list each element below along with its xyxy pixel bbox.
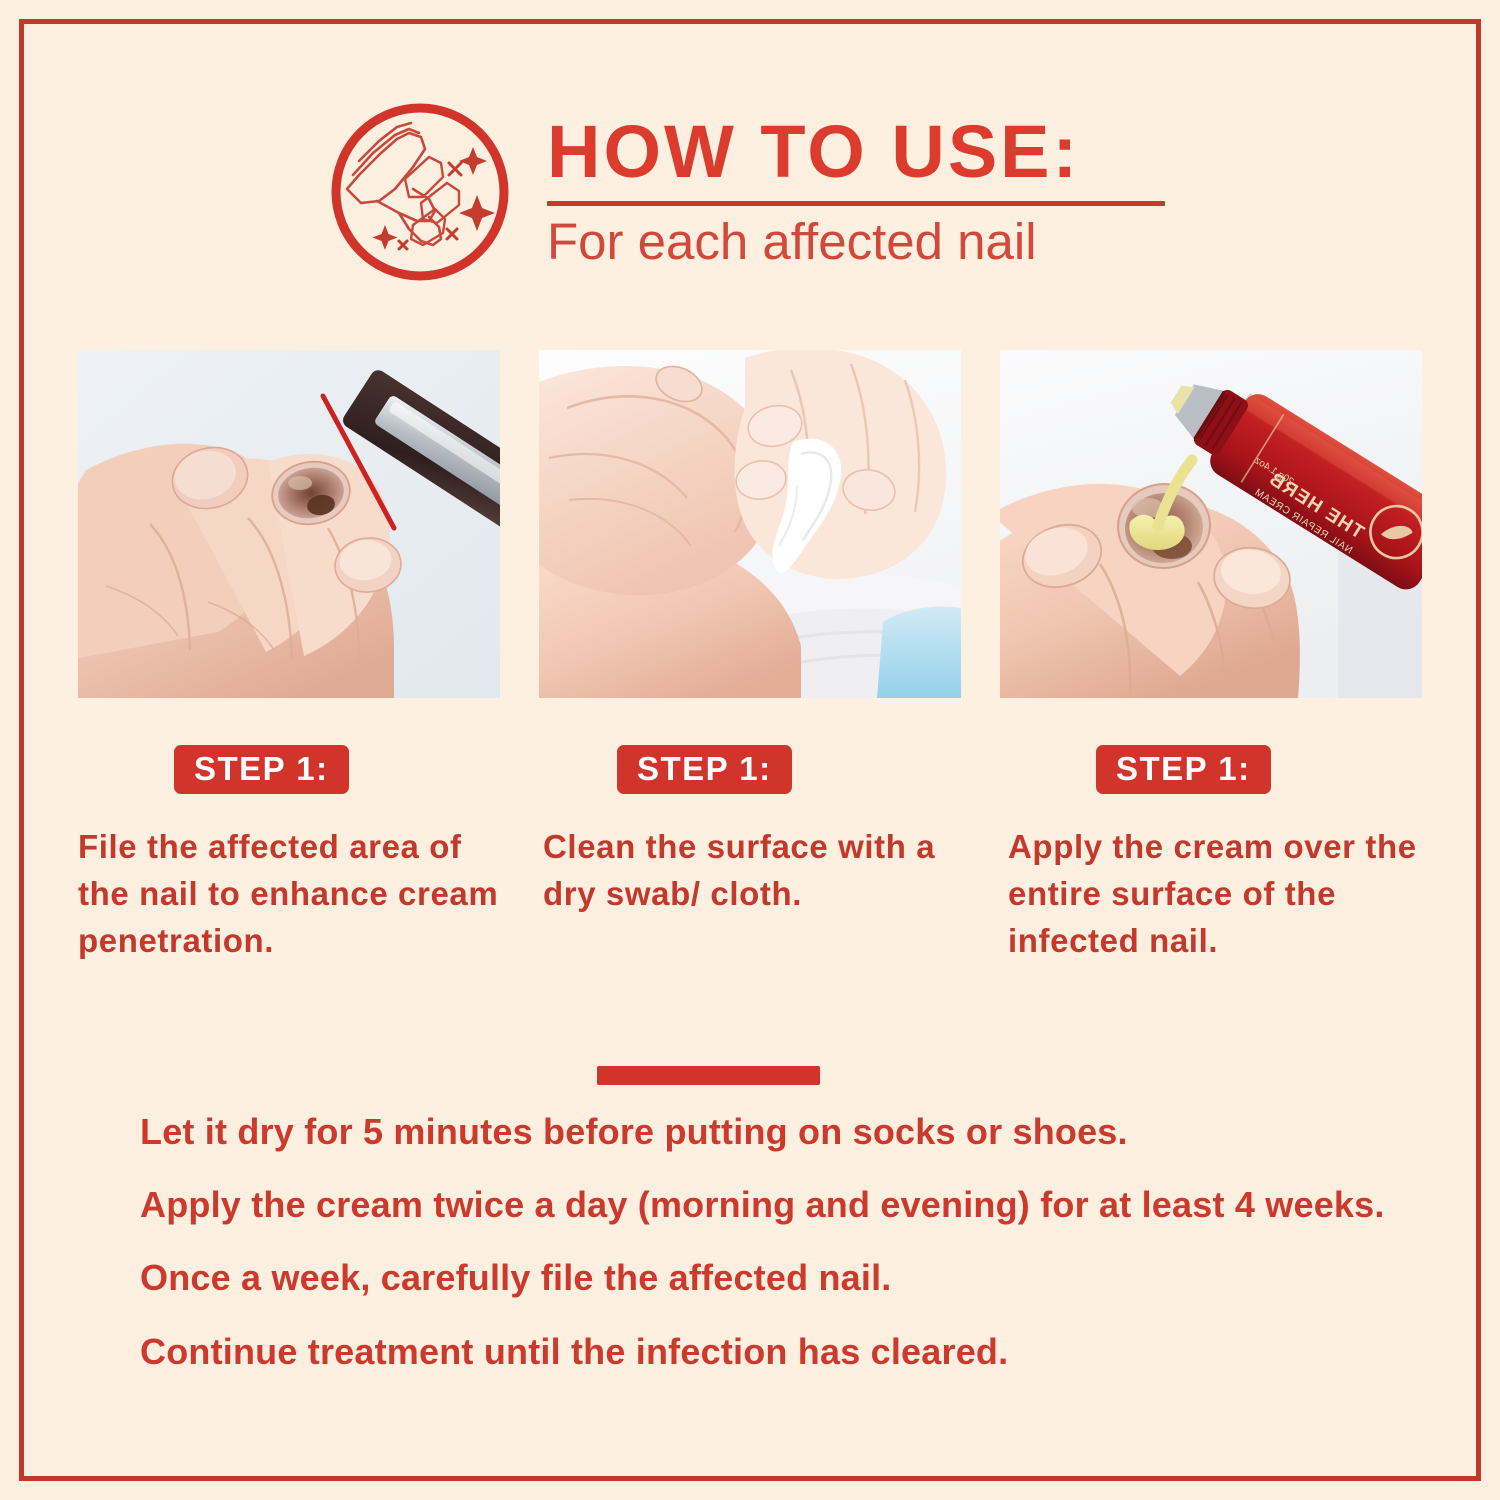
usage-note: Apply the cream twice a day (morning and…	[140, 1181, 1420, 1229]
usage-notes-list: Let it dry for 5 minutes before putting …	[140, 1108, 1420, 1376]
step-description-1: File the affected area of the nail to en…	[78, 824, 500, 965]
usage-note: Continue treatment until the infection h…	[140, 1328, 1420, 1376]
step-description-2: Clean the surface with a dry swab/ cloth…	[539, 824, 961, 918]
header: HOW TO USE: For each affected nail	[0, 92, 1500, 292]
photo-applying-cream-from-tube: THE HERB NAIL REPAIR CREAM 20g 1.4oz	[1000, 350, 1422, 698]
step-badge-2: STEP 1:	[617, 745, 792, 794]
step-badge-3: STEP 1:	[1096, 745, 1271, 794]
title-underline-rule	[547, 201, 1165, 206]
step-column-2: STEP 1: Clean the surface with a dry swa…	[539, 350, 961, 965]
how-to-use-infographic: HOW TO USE: For each affected nail	[0, 0, 1500, 1500]
usage-note: Once a week, carefully file the affected…	[140, 1254, 1420, 1302]
step-column-3: THE HERB NAIL REPAIR CREAM 20g 1.4oz STE…	[1000, 350, 1422, 965]
photo-filing-nail-with-file	[78, 350, 500, 698]
step-description-3: Apply the cream over the entire surface …	[1000, 824, 1422, 965]
photo-cleaning-nail-with-cloth	[539, 350, 961, 698]
step-column-1: STEP 1: File the affected area of the na…	[78, 350, 500, 965]
section-divider-bar	[597, 1066, 820, 1085]
step-badge-row-3: STEP 1:	[1000, 745, 1422, 794]
nail-sparkle-circle-icon	[325, 97, 515, 287]
step-badge-row-1: STEP 1:	[78, 745, 500, 794]
usage-note: Let it dry for 5 minutes before putting …	[140, 1108, 1420, 1156]
steps-row: STEP 1: File the affected area of the na…	[78, 350, 1422, 965]
page-title: HOW TO USE:	[547, 115, 1175, 189]
step-badge-1: STEP 1:	[174, 745, 349, 794]
step-badge-row-2: STEP 1:	[539, 745, 961, 794]
page-subtitle: For each affected nail	[547, 215, 1175, 269]
header-text-block: HOW TO USE: For each affected nail	[547, 115, 1175, 269]
